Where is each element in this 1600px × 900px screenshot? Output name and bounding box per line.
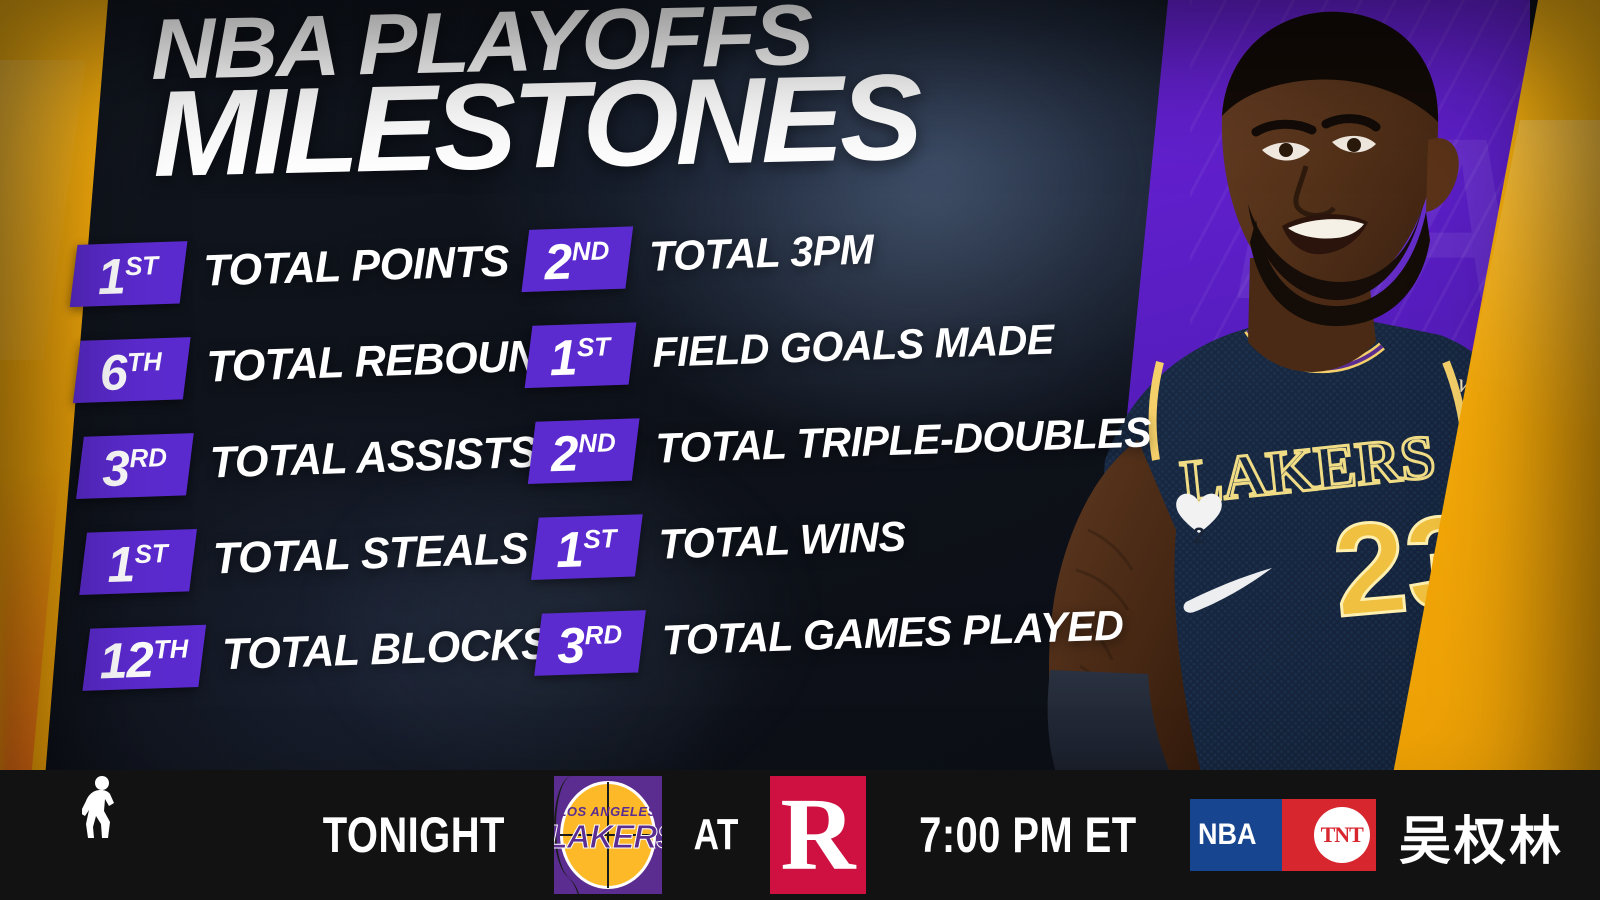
headline: NBA PLAYOFFS MILESTONES (150, 0, 1154, 187)
rockets-logo: R (770, 776, 866, 894)
milestone-label: TOTAL POINTS (203, 237, 510, 297)
tipoff-time: 7:00 PM ET (919, 806, 1136, 864)
rank-suffix: RD (129, 444, 167, 471)
rank-suffix: RD (584, 621, 622, 648)
nba-logo-text: NBA (1198, 818, 1257, 852)
milestone-label: FIELD GOALS MADE (652, 316, 1055, 377)
milestone-row: 12TH TOTAL BLOCKS (85, 596, 558, 708)
tnt-circle: TNT (1314, 807, 1370, 863)
milestones-left-column: 1ST TOTAL POINTS 6TH TOTAL REBOUNDS 3RD … (72, 212, 558, 707)
milestone-row: 3RD TOTAL GAMES PLAYED (536, 578, 1099, 693)
rank-suffix: ST (124, 252, 158, 279)
rank-number: 3 (556, 620, 584, 671)
milestones-grid: 1ST TOTAL POINTS 6TH TOTAL REBOUNDS 3RD … (72, 195, 1097, 708)
rank-suffix: ST (583, 525, 617, 552)
rank-number: 6 (99, 347, 127, 398)
rank-badge: 2ND (521, 226, 633, 292)
milestone-row: 1ST TOTAL STEALS (82, 500, 555, 612)
milestone-label: TOTAL BLOCKS (222, 619, 551, 680)
rank-number: 2 (543, 236, 571, 287)
rank-badge: 12TH (82, 625, 206, 691)
rank-badge: 1ST (70, 241, 188, 307)
milestone-label: TOTAL ASSISTS (209, 428, 538, 489)
rank-number: 1 (555, 524, 583, 575)
rank-badge: 6TH (73, 337, 191, 403)
rank-suffix: ST (576, 333, 610, 360)
rank-number: 3 (101, 443, 129, 494)
tnt-logo-text: TNT (1321, 822, 1363, 848)
nba-on-tnt-logo: NBA TNT (1190, 799, 1376, 871)
lakers-logo-city: LOS ANGELES (554, 804, 662, 819)
rank-number: 1 (97, 251, 125, 302)
tnt-logo-panel: TNT (1282, 799, 1376, 871)
milestone-label: TOTAL GAMES PLAYED (661, 601, 1124, 664)
lakers-seam-curve-right (554, 878, 584, 894)
milestone-label: TOTAL WINS (658, 513, 906, 569)
rank-suffix: ND (571, 237, 609, 264)
lakers-logo: LOS ANGELES LAKERS (554, 776, 662, 894)
milestone-row: 2ND TOTAL TRIPLE-DOUBLES (530, 386, 1093, 501)
rank-suffix: TH (127, 348, 163, 375)
rank-badge: 3RD (76, 433, 194, 499)
rank-number: 12 (99, 635, 154, 687)
rank-number: 1 (549, 332, 577, 383)
game-info-bar: TONIGHT LOS ANGELES LAKERS AT R 7:0 (0, 770, 1600, 900)
rank-badge: 1ST (531, 514, 643, 580)
game-info-content: TONIGHT LOS ANGELES LAKERS AT R 7:0 (300, 776, 1376, 894)
milestone-row: 1ST TOTAL WINS (533, 482, 1096, 597)
svg-text:2: 2 (1193, 523, 1205, 548)
game-day-label: TONIGHT (323, 806, 505, 864)
milestone-row: 1ST TOTAL POINTS (72, 212, 545, 324)
milestone-label: TOTAL 3PM (648, 225, 874, 280)
rank-badge: 1ST (79, 529, 197, 595)
rank-badge: 2ND (528, 418, 640, 484)
rank-badge: 3RD (534, 610, 646, 676)
rank-number: 2 (550, 428, 578, 479)
milestone-row: 6TH TOTAL REBOUNDS (75, 308, 548, 420)
versus-label: AT (693, 810, 738, 860)
milestone-label: TOTAL TRIPLE-DOUBLES (655, 408, 1152, 472)
rank-suffix: ND (577, 429, 615, 456)
nba-logo-panel: NBA (1190, 799, 1282, 871)
milestone-row: 2ND TOTAL 3PM (524, 194, 1087, 309)
rockets-logo-letter: R (780, 783, 855, 887)
watermark: 吴权林 (1399, 799, 1564, 874)
milestone-label: TOTAL STEALS (212, 524, 529, 584)
milestones-right-column: 2ND TOTAL 3PM 1ST FIELD GOALS MADE 2ND T… (524, 194, 1100, 692)
nba-playoffs-milestones-graphic: LA (0, 0, 1600, 900)
rank-suffix: ST (134, 540, 168, 567)
rank-badge: 1ST (525, 322, 637, 388)
rank-number: 1 (106, 539, 134, 590)
milestone-row: 3RD TOTAL ASSISTS (78, 404, 551, 516)
rank-suffix: TH (153, 635, 189, 662)
lakers-logo-wordmark: LAKERS (554, 818, 662, 856)
milestone-row: 1ST FIELD GOALS MADE (527, 290, 1090, 405)
